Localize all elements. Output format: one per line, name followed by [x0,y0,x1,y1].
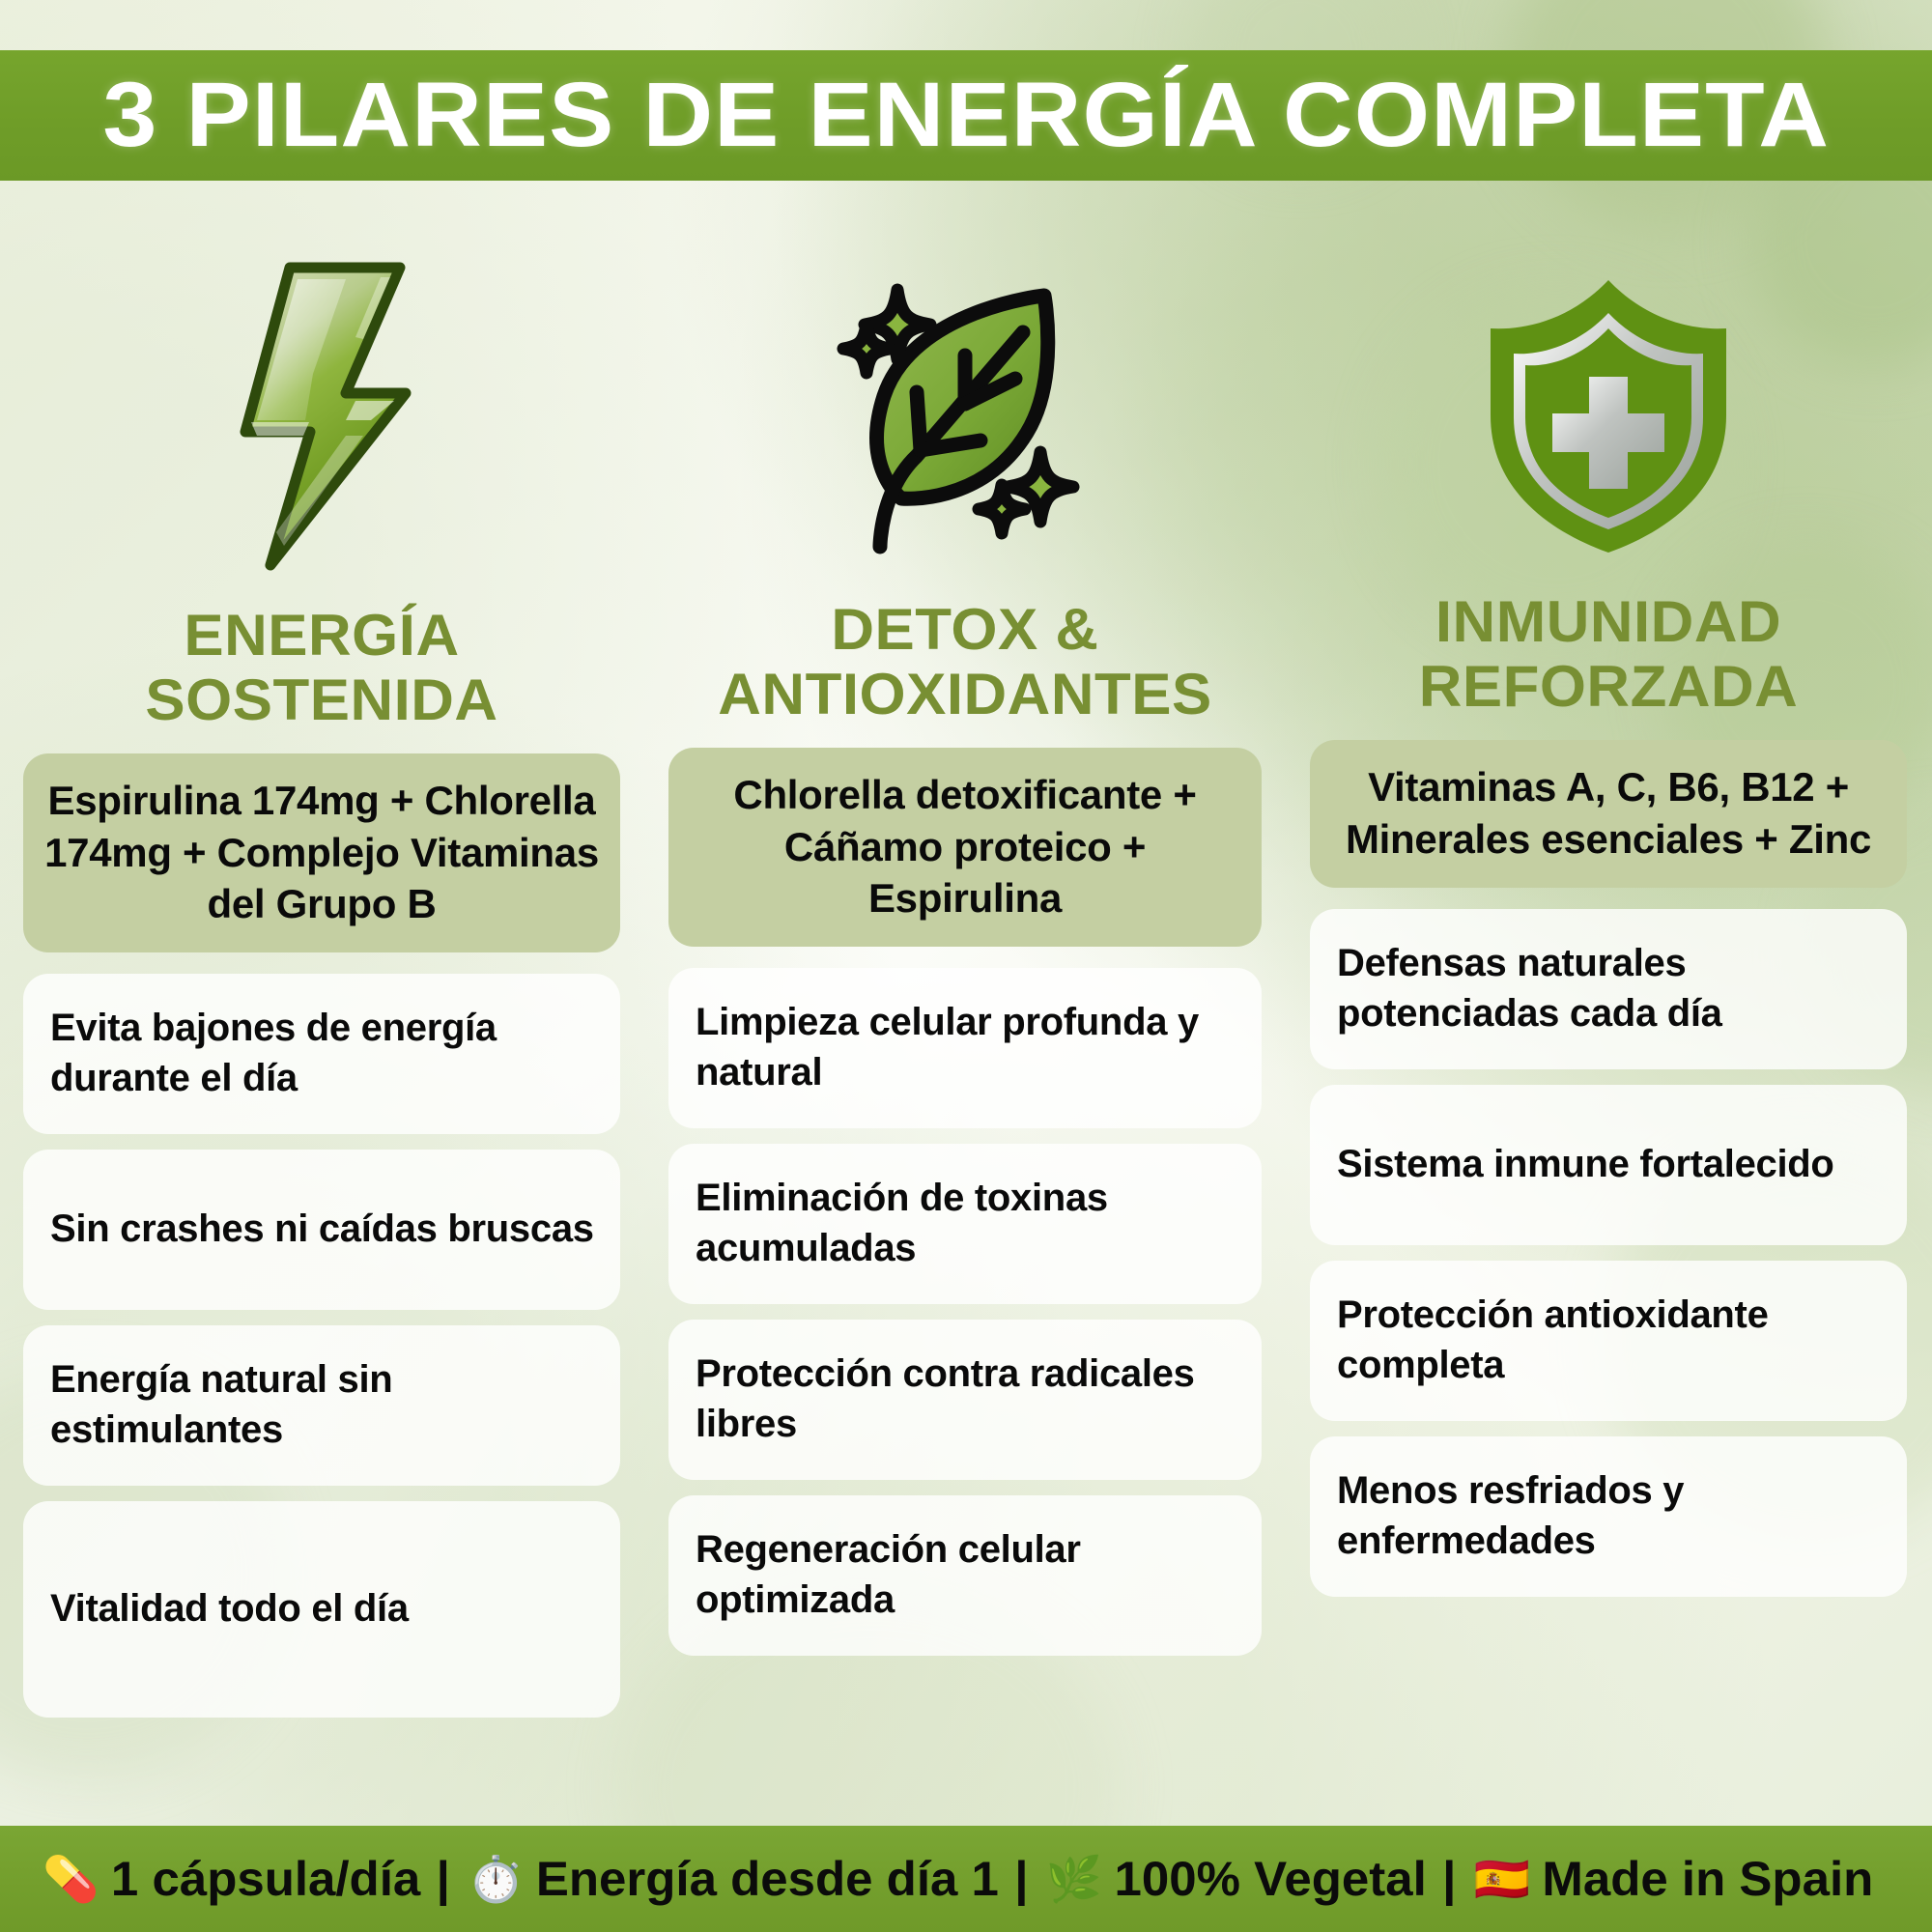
footer-claim-label: 1 cápsula/día [111,1851,420,1907]
benefit-item: Energía natural sin estimulantes [23,1325,620,1486]
leaf-sparkle-icon [643,241,1287,589]
pillar-title-line2: SOSTENIDA [0,668,653,732]
benefit-item: Protección contra radicales libres [668,1320,1262,1480]
footer-separator: | [1442,1851,1456,1907]
footer-claim-label: Energía desde día 1 [536,1851,999,1907]
pill-emoji: 💊 [43,1853,99,1906]
pillar-title-line1: ENERGÍA [0,603,653,668]
pillar-column-energia: ENERGÍA SOSTENIDA Espirulina 174mg + Chl… [0,241,643,1816]
benefit-item: Sin crashes ni caídas bruscas [23,1150,620,1310]
header-banner: 3 PILARES DE ENERGÍA COMPLETA [0,50,1932,181]
pillar-title-line2: REFORZADA [1277,654,1932,719]
footer-separator: | [1014,1851,1028,1907]
lightning-bolt-icon [0,241,643,589]
pillar-title-line1: INMUNIDAD [1277,589,1932,654]
pillar-title-line1: DETOX & [634,597,1296,662]
spain-flag-emoji: 🇪🇸 [1474,1853,1530,1906]
benefit-item: Vitalidad todo el día [23,1501,620,1718]
benefit-item: Defensas naturales potenciadas cada día [1310,909,1907,1069]
footer-claim-label: Made in Spain [1542,1851,1873,1907]
ingredient-box: Espirulina 174mg + Chlorella 174mg + Com… [23,753,620,952]
pillars-container: ENERGÍA SOSTENIDA Espirulina 174mg + Chl… [0,241,1932,1816]
benefit-item: Regeneración celular optimizada [668,1495,1262,1656]
pillar-title-line2: ANTIOXIDANTES [634,662,1296,726]
benefits-list: Evita bajones de energía durante el día … [0,974,643,1733]
footer-claims: 💊 1 cápsula/día | ⏱️ Energía desde día 1… [43,1851,1889,1907]
pillar-column-detox: DETOX & ANTIOXIDANTES Chlorella detoxifi… [643,241,1287,1816]
benefit-item: Eliminación de toxinas acumuladas [668,1144,1262,1304]
ingredient-box: Chlorella detoxificante + Cáñamo proteic… [668,748,1262,947]
pillar-column-inmunidad: INMUNIDAD REFORZADA Vitaminas A, C, B6, … [1287,241,1930,1816]
benefits-list: Defensas naturales potenciadas cada día … [1287,909,1930,1612]
benefit-item: Protección antioxidante completa [1310,1261,1907,1421]
benefit-item: Menos resfriados y enfermedades [1310,1436,1907,1597]
benefit-item: Sistema inmune fortalecido [1310,1085,1907,1245]
benefits-list: Limpieza celular profunda y natural Elim… [643,968,1287,1671]
ingredient-box: Vitaminas A, C, B6, B12 + Minerales esen… [1310,740,1907,888]
pillar-title: INMUNIDAD REFORZADA [1277,589,1932,719]
footer-claim-label: 100% Vegetal [1115,1851,1427,1907]
page-title: 3 PILARES DE ENERGÍA COMPLETA [102,70,1830,161]
infographic-poster: 3 PILARES DE ENERGÍA COMPLETA [0,0,1932,1932]
benefit-item: Evita bajones de energía durante el día [23,974,620,1134]
benefit-item: Limpieza celular profunda y natural [668,968,1262,1128]
herb-emoji: 🌿 [1046,1853,1102,1906]
pillar-title: ENERGÍA SOSTENIDA [0,603,653,732]
shield-plus-icon [1287,241,1930,589]
stopwatch-emoji: ⏱️ [468,1853,524,1906]
footer-bar: 💊 1 cápsula/día | ⏱️ Energía desde día 1… [0,1826,1932,1932]
pillar-title: DETOX & ANTIOXIDANTES [634,597,1296,726]
footer-separator: | [437,1851,450,1907]
